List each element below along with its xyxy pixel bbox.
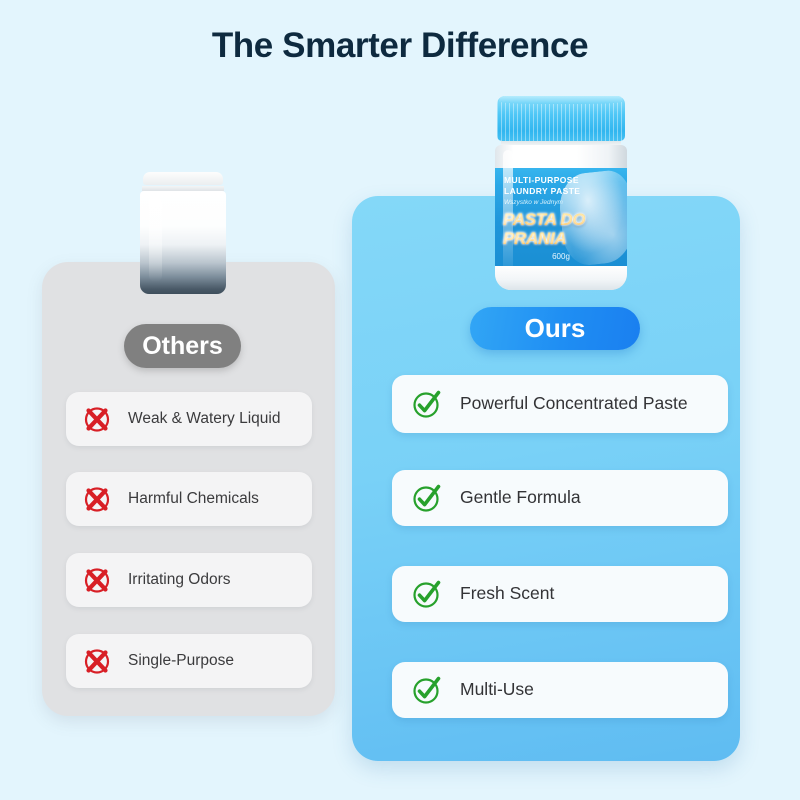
jar-label-line1: MULTI-PURPOSE: [504, 175, 579, 185]
cross-circle-icon: [82, 404, 112, 434]
check-circle-icon: [410, 388, 442, 420]
ours-item-3[interactable]: Multi-Use: [392, 662, 728, 718]
cross-circle-icon: [82, 565, 112, 595]
others-jar-lid: [143, 172, 223, 185]
others-product-image: [140, 172, 226, 294]
jar-cap-top: [499, 96, 623, 104]
check-circle-icon: [410, 482, 442, 514]
ours-item-label: Powerful Concentrated Paste: [460, 393, 688, 415]
ours-product-image: MULTI-PURPOSE LAUNDRY PASTE Wszystko w J…: [487, 96, 635, 290]
others-item-3[interactable]: Single-Purpose: [66, 634, 312, 688]
jar-brand-line1: PASTA DO: [503, 210, 585, 230]
ours-item-1[interactable]: Gentle Formula: [392, 470, 728, 526]
others-badge-label: Others: [142, 332, 223, 361]
ours-item-2[interactable]: Fresh Scent: [392, 566, 728, 622]
others-badge: Others: [124, 324, 241, 368]
jar-base: [495, 266, 627, 290]
ours-item-label: Multi-Use: [460, 679, 534, 701]
others-item-0[interactable]: Weak & Watery Liquid: [66, 392, 312, 446]
others-jar-highlight: [149, 196, 162, 282]
others-item-label: Irritating Odors: [128, 570, 231, 589]
ours-badge: Ours: [470, 307, 640, 350]
jar-highlight: [503, 150, 513, 280]
jar-label: MULTI-PURPOSE LAUNDRY PASTE Wszystko w J…: [495, 168, 627, 268]
check-circle-icon: [410, 674, 442, 706]
jar-label-line2: LAUNDRY PASTE: [504, 186, 580, 196]
others-item-1[interactable]: Harmful Chemicals: [66, 472, 312, 526]
others-item-2[interactable]: Irritating Odors: [66, 553, 312, 607]
ours-item-label: Fresh Scent: [460, 583, 554, 605]
others-item-label: Harmful Chemicals: [128, 489, 259, 508]
cross-circle-icon: [82, 646, 112, 676]
ours-item-label: Gentle Formula: [460, 487, 581, 509]
others-item-label: Weak & Watery Liquid: [128, 409, 280, 428]
others-item-label: Single-Purpose: [128, 651, 234, 670]
ours-badge-label: Ours: [525, 313, 586, 344]
ours-item-0[interactable]: Powerful Concentrated Paste: [392, 375, 728, 433]
jar-weight: 600g: [495, 252, 627, 261]
page-title: The Smarter Difference: [0, 26, 800, 66]
cross-circle-icon: [82, 484, 112, 514]
check-circle-icon: [410, 578, 442, 610]
